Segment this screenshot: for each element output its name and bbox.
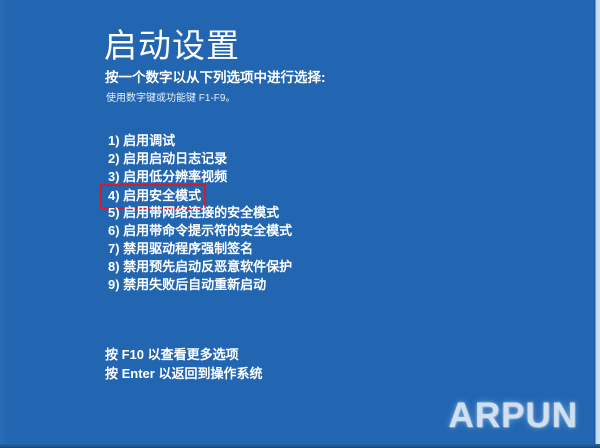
- startup-settings-screen: 启动设置 按一个数字以从下列选项中进行选择: 使用数字键或功能键 F1-F9。 …: [0, 0, 600, 448]
- footer-actions: 按 F10 以查看更多选项 按 Enter 以返回到操作系统: [105, 345, 505, 383]
- boot-option-label: 3) 启用低分辨率视频: [108, 168, 227, 186]
- boot-option-1[interactable]: 1) 启用调试: [108, 132, 508, 150]
- boot-option-9[interactable]: 9) 禁用失败后自动重新启动: [108, 276, 508, 294]
- boot-option-5[interactable]: 5) 启用带网络连接的安全模式: [108, 204, 508, 222]
- boot-option-label: 7) 禁用驱动程序强制签名: [108, 240, 253, 258]
- boot-option-6[interactable]: 6) 启用带命令提示符的安全模式: [108, 222, 508, 240]
- boot-option-label: 1) 启用调试: [108, 132, 175, 150]
- boot-option-label: 5) 启用带网络连接的安全模式: [108, 204, 279, 222]
- page-title: 启动设置: [104, 26, 240, 66]
- instruction-subtitle: 按一个数字以从下列选项中进行选择:: [105, 70, 326, 86]
- keyboard-hint-text: 使用数字键或功能键 F1-F9。: [106, 92, 235, 106]
- boot-options-list: 1) 启用调试2) 启用启动日志记录3) 启用低分辨率视频4) 启用安全模式5)…: [108, 132, 508, 294]
- boot-option-7[interactable]: 7) 禁用驱动程序强制签名: [108, 240, 508, 258]
- boot-option-label: 9) 禁用失败后自动重新启动: [108, 276, 266, 294]
- boot-option-2[interactable]: 2) 启用启动日志记录: [108, 150, 508, 168]
- boot-option-3[interactable]: 3) 启用低分辨率视频: [108, 168, 508, 186]
- boot-option-4[interactable]: 4) 启用安全模式: [108, 186, 508, 204]
- more-options-action[interactable]: 按 F10 以查看更多选项: [105, 345, 505, 364]
- boot-option-label: 2) 启用启动日志记录: [108, 150, 227, 168]
- boot-option-8[interactable]: 8) 禁用预先启动反恶意软件保护: [108, 258, 508, 276]
- screen-content: 启动设置 按一个数字以从下列选项中进行选择: 使用数字键或功能键 F1-F9。 …: [0, 0, 600, 448]
- arpun-watermark: ARPUN: [449, 397, 578, 435]
- boot-option-label: 8) 禁用预先启动反恶意软件保护: [108, 258, 292, 276]
- return-to-os-action[interactable]: 按 Enter 以返回到操作系统: [105, 364, 505, 383]
- boot-option-label: 6) 启用带命令提示符的安全模式: [108, 222, 292, 240]
